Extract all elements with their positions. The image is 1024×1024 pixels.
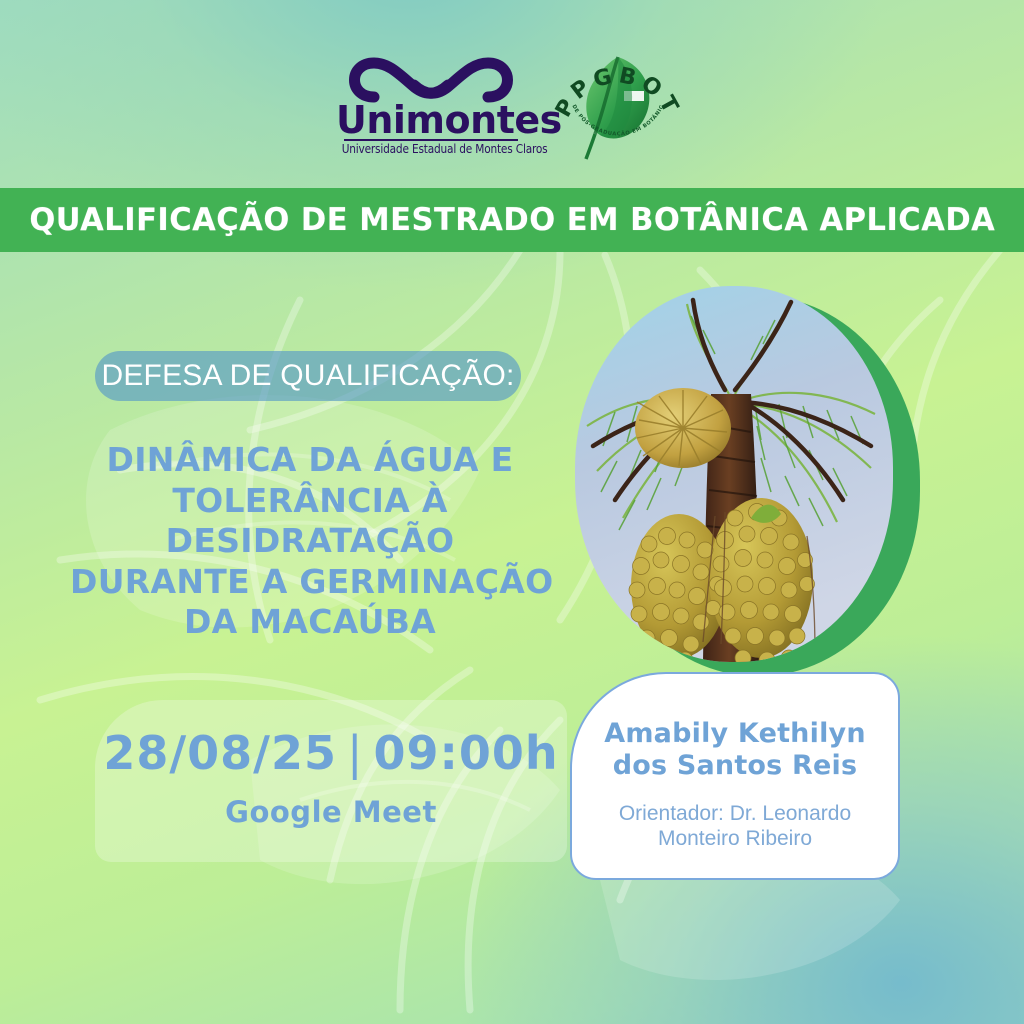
ppgbot-logo: PPGBOT PROGRAMA DE PÓS-GRADUAÇÃO EM BOTÂ…	[548, 31, 688, 171]
thesis-title-line-2: TOLERÂNCIA À	[70, 481, 550, 522]
unimontes-subtitle: Universidade Estadual de Montes Claros	[342, 141, 521, 156]
student-name-line-2: dos Santos Reis	[604, 750, 866, 782]
banner-title: QUALIFICAÇÃO DE MESTRADO EM BOTÂNICA APL…	[29, 202, 995, 238]
poster-canvas: Unimontes Universidade Estadual de Monte…	[0, 0, 1024, 1024]
defesa-label-text: DEFESA DE QUALIFICAÇÃO:	[101, 359, 514, 393]
presenter-card: Amabily Kethilyn dos Santos Reis Orienta…	[570, 672, 900, 880]
advisor-name: Orientador: Dr. Leonardo Monteiro Ribeir…	[619, 801, 851, 852]
advisor-line-2: Monteiro Ribeiro	[619, 826, 851, 852]
macauba-palm-illustration	[575, 286, 893, 662]
unimontes-logo: Unimontes Universidade Estadual de Monte…	[336, 47, 526, 155]
thesis-title-line-3: DESIDRATAÇÃO	[70, 521, 550, 562]
ppgbot-leaf-seal: PPGBOT PROGRAMA DE PÓS-GRADUAÇÃO EM BOTÂ…	[548, 31, 688, 171]
macauba-photo	[575, 286, 893, 662]
schedule-panel	[95, 700, 567, 862]
event-time: 09:00h	[373, 726, 558, 780]
event-date: 28/08/25	[103, 726, 337, 780]
logo-row: Unimontes Universidade Estadual de Monte…	[0, 26, 1024, 176]
thesis-title: DINÂMICA DA ÁGUA E TOLERÂNCIA À DESIDRAT…	[70, 440, 550, 643]
student-name: Amabily Kethilyn dos Santos Reis	[604, 718, 866, 783]
thesis-title-line-4: DURANTE A GERMINAÇÃO	[70, 562, 550, 603]
thesis-title-line-1: DINÂMICA DA ÁGUA E	[70, 440, 550, 481]
defesa-label-pill: DEFESA DE QUALIFICAÇÃO:	[95, 351, 521, 401]
advisor-line-1: Orientador: Dr. Leonardo	[619, 801, 851, 827]
thesis-title-line-5: DA MACAÚBA	[70, 602, 550, 643]
unimontes-wordmark: Unimontes	[336, 101, 526, 139]
title-banner: QUALIFICAÇÃO DE MESTRADO EM BOTÂNICA APL…	[0, 188, 1024, 252]
unimontes-ribbon-mark	[336, 47, 526, 103]
datetime-separator: |	[337, 726, 374, 780]
event-platform: Google Meet	[95, 795, 567, 829]
student-name-line-1: Amabily Kethilyn	[604, 718, 866, 750]
schedule-datetime: 28/08/25|09:00h	[95, 726, 567, 780]
